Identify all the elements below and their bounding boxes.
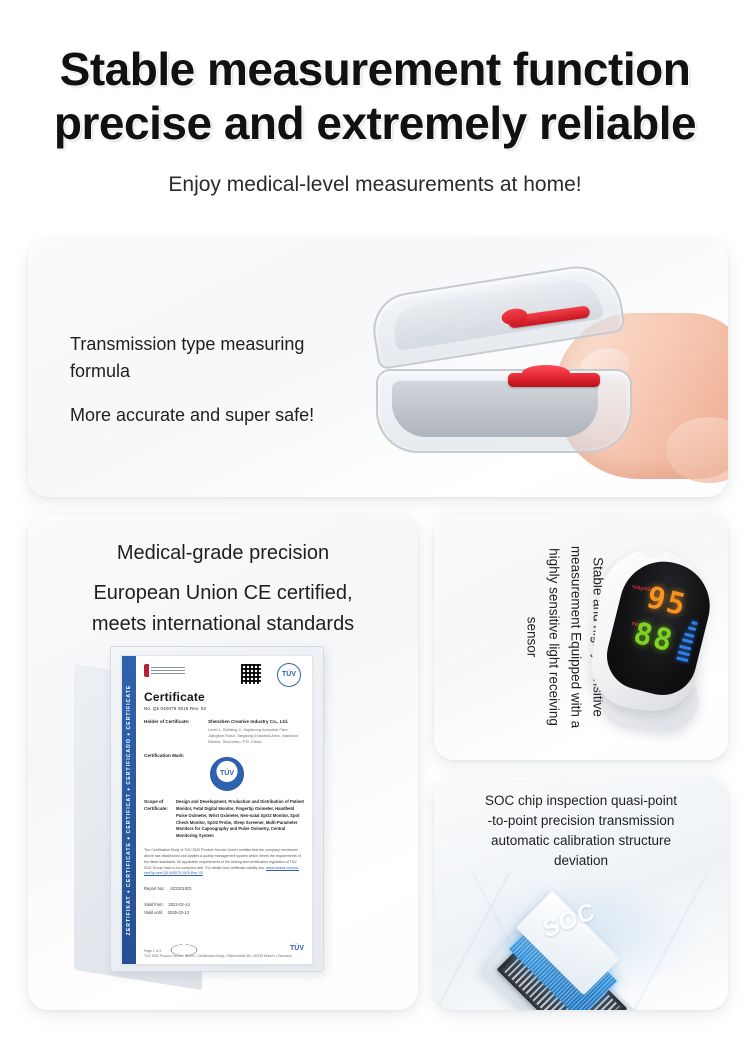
certificate-holder-name: Shenzhen Creative Industry Co., Ltd. [208,719,305,726]
certificate-sleeve: ZERTIFIKAT ♦ CERTIFICATE ♦ CERTIFICAT ♦ … [110,646,324,972]
signal-bar [679,644,691,650]
certificate-heading: Certificate [144,690,305,704]
red-clip-bottom-shape [508,373,600,387]
transmission-copy: Transmission type measuring formula More… [70,331,370,429]
certificate-scope-row: Scope of Certificate: Design and Develop… [144,799,305,839]
oximeter-display-screen: %SpO2 95 PRbpm 88 [600,552,719,702]
certificate-holder-label: Holder of Certificate: [144,719,200,745]
certificate-title: Medical-grade precision [28,538,418,569]
signal-strength-bars [675,619,697,665]
page-header: Stable measurement function precise and … [0,0,750,197]
certificate-valid-until-value: 2025-02-13 [168,910,189,915]
certificate-report-value: SZ2201001 [170,886,192,891]
feature-card-oximeter: Stable and highly sensitive measurement … [434,514,728,760]
signal-bar [676,657,688,663]
feature-card-certificate: Medical-grade precision European Union C… [28,514,418,1010]
soc-chip-image: SOC [434,873,728,1010]
certificate-disclaimer: The Certification Body of TÜV SÜD Produc… [144,848,305,878]
fingertip-oximeter-image: %SpO2 95 PRbpm 88 [584,546,714,732]
certificate-body: TÜV Certificate No. Q5 040075 0015 Rev. … [144,664,305,965]
certificate-mark-value [208,753,305,791]
headline-line-2: precise and extremely reliable [14,96,736,150]
headline-line-1: Stable measurement function [60,43,691,95]
certificate-report-row: Report No.: SZ2201001 [144,885,305,893]
certificate-page: ZERTIFIKAT ♦ CERTIFICATE ♦ CERTIFICAT ♦ … [121,655,313,965]
page-title: Stable measurement function precise and … [0,42,750,151]
certificate-holder-address: Level 1, Building 2, Jinjiahong Industri… [208,727,305,746]
soc-copy: SOC chip inspection quasi-point -to-poin… [444,791,718,871]
soc-text-line-4: deviation [444,851,718,871]
page-subtitle: Enjoy medical-level measurements at home… [0,173,750,197]
certificate-footer: Page 1 of 2 TÜV SÜD Product Service GmbH… [144,949,305,959]
tuv-logo-icon: TÜV [277,663,301,687]
qr-code-icon [241,664,261,684]
feature-card-transmission: Transmission type measuring formula More… [28,239,728,497]
certificate-report-label: Report No.: [144,886,165,891]
tuv-certification-mark-icon [210,757,244,791]
case-base-inner-shape [392,381,598,437]
signal-bar [684,632,694,637]
certificate-scope-label: Scope of Certificate: [144,799,168,839]
certificate-holder-row: Holder of Certificate: Shenzhen Creative… [144,719,305,745]
soc-text-line-1: SOC chip inspection quasi-point [444,791,718,811]
certificate-mark-label: Certification Mark: [144,753,200,791]
certificate-band-text: ZERTIFIKAT ♦ CERTIFICATE ♦ CERTIFICAT ♦ … [126,685,132,936]
certificate-valid-from-value: 2022-02-14 [168,902,189,907]
signal-bar [691,621,698,625]
transmission-text-line-1: Transmission type measuring [70,331,370,358]
clamshell-oximeter-image [358,261,728,489]
certificate-subtitle-line-1: European Union CE certified, [28,578,418,609]
signal-bar [688,627,696,632]
certificate-footer-address: TÜV SÜD Product Service GmbH • Certifica… [144,954,305,959]
certificate-valid-row: Valid from: 2022-02-14 Valid until: 2025… [144,901,305,916]
certificate-holder-value: Shenzhen Creative Industry Co., Ltd. Lev… [208,719,305,745]
pulse-rate-value: 88 [630,616,677,660]
certificate-document-image: ZERTIFIKAT ♦ CERTIFICATE ♦ CERTIFICAT ♦ … [28,634,418,1010]
signal-bar [678,650,690,656]
certificate-mark-row: Certification Mark: [144,753,305,791]
dakks-logo-icon [144,664,186,677]
certificate-valid-from-label: Valid from: [144,902,164,907]
knuckle-shape [666,417,728,483]
soc-text-line-3: automatic calibration structure [444,831,718,851]
certificate-side-band: ZERTIFIKAT ♦ CERTIFICATE ♦ CERTIFICAT ♦ … [122,656,136,964]
transmission-text-line-3: More accurate and super safe! [70,402,370,429]
soc-text-line-2: -to-point precision transmission [444,811,718,831]
signal-bar [682,638,693,644]
feature-card-soc-chip: SOC chip inspection quasi-point -to-poin… [434,777,728,1010]
transmission-text-line-2: formula [70,358,370,385]
certificate-copy: Medical-grade precision European Union C… [28,538,418,640]
certificate-valid-until-label: Valid until: [144,910,163,915]
certificate-scope-value: Design and Development, Production and D… [176,799,305,839]
spo2-value: 95 [643,580,690,624]
certificate-number: No. Q5 040075 0015 Rev. 03 [144,706,305,711]
